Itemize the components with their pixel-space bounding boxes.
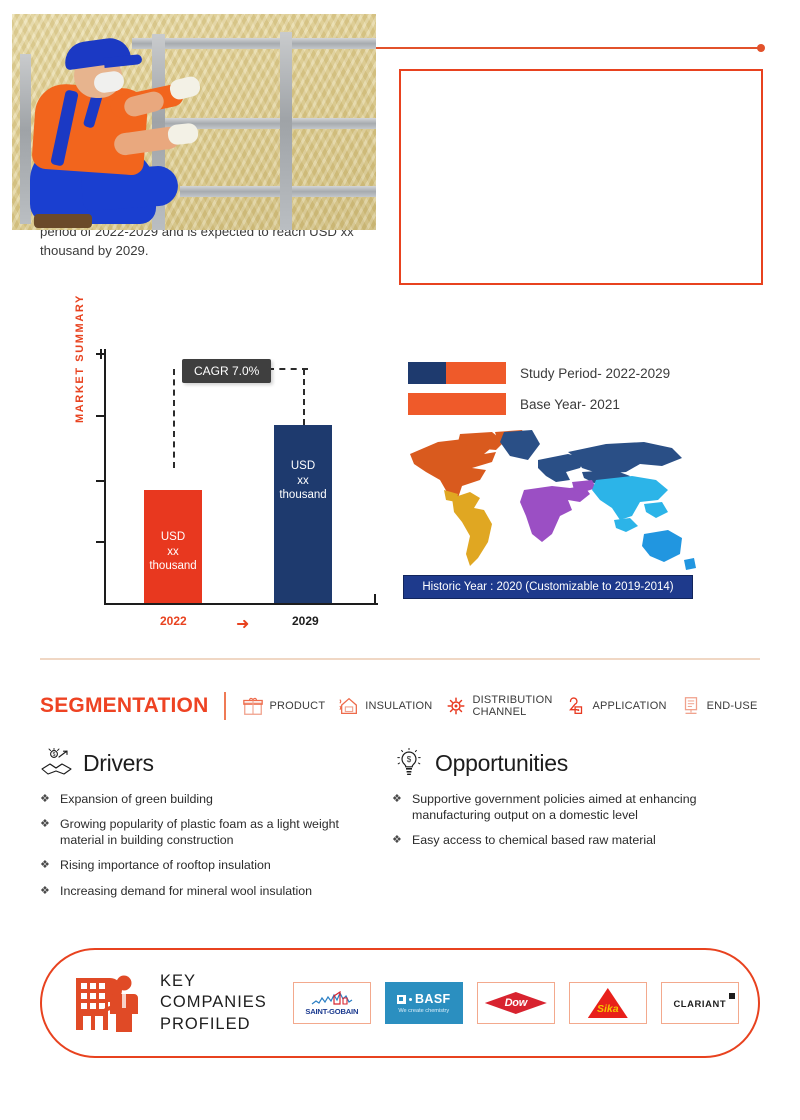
list-item: ❖ Growing popularity of plastic foam as … xyxy=(40,816,380,848)
legend-item-study-period: Study Period- 2022-2029 xyxy=(408,362,670,384)
driver-text: Increasing demand for mineral wool insul… xyxy=(60,883,380,899)
bar-2029-value: USD xx thousand xyxy=(274,459,332,503)
segmentation-divider xyxy=(224,692,226,720)
driver-text: Rising importance of rooftop insulation xyxy=(60,857,380,873)
hero-image-frame xyxy=(399,69,763,285)
basf-logo[interactable]: BASF We create chemistry xyxy=(385,982,463,1024)
drivers-section: $ Drivers ❖ Expansion of green building … xyxy=(40,748,380,908)
segmentation-bar: SEGMENTATION PRODUCT INSULATION xyxy=(40,686,770,726)
saint-gobain-wordmark: SAINT-GOBAIN xyxy=(305,1007,358,1016)
bullet-glyph: ❖ xyxy=(40,791,60,807)
chart-x-axis xyxy=(104,603,378,605)
opportunities-list: ❖ Supportive government policies aimed a… xyxy=(392,791,762,848)
opportunity-text: Easy access to chemical based raw materi… xyxy=(412,832,762,848)
y-tick xyxy=(96,541,106,543)
chart-x-labels: 2022 ➜ 2029 xyxy=(104,611,378,635)
bullet-glyph: ❖ xyxy=(392,832,412,848)
x-label-2029: 2029 xyxy=(292,614,319,628)
insulation-worker-photo xyxy=(12,14,376,230)
list-item: ❖ Easy access to chemical based raw mate… xyxy=(392,832,762,848)
chart-legend: Study Period- 2022-2029 Base Year- 2021 xyxy=(408,362,670,424)
segment-application[interactable]: APPLICATION xyxy=(565,695,666,717)
world-map-icon xyxy=(400,424,718,576)
section-divider xyxy=(40,658,760,660)
segmentation-items: PRODUCT INSULATION xyxy=(242,694,757,719)
product-box-icon xyxy=(242,695,264,717)
saint-gobain-logo[interactable]: SAINT-GOBAIN xyxy=(293,982,371,1024)
key-companies-title: KEY COMPANIES PROFILED xyxy=(160,971,267,1034)
dow-diamond-icon: Dow xyxy=(485,992,547,1014)
opportunity-text: Supportive government policies aimed at … xyxy=(412,791,762,823)
bar-2029: USD xx thousand xyxy=(274,425,332,603)
sika-wordmark: Sika xyxy=(597,1003,619,1015)
segmentation-heading: SEGMENTATION xyxy=(40,694,208,718)
segment-label: APPLICATION xyxy=(592,700,666,712)
dow-wordmark: Dow xyxy=(505,997,527,1009)
basf-mark: BASF xyxy=(397,992,451,1006)
lightbulb-dollar-icon: $ xyxy=(392,748,426,778)
svg-text:$: $ xyxy=(407,755,412,764)
list-item: ❖ Expansion of green building xyxy=(40,791,380,807)
growth-arrow-icon: ➜ xyxy=(236,617,249,633)
bar-2022: USD xx thousand xyxy=(144,490,202,603)
key-companies-box: KEY COMPANIES PROFILED SAINT-GOBAIN BASF xyxy=(40,948,760,1058)
house-insulation-icon xyxy=(338,695,360,717)
clariant-logo[interactable]: CLARIANT xyxy=(661,982,739,1024)
segment-product[interactable]: PRODUCT xyxy=(242,695,325,717)
legend-item-base-year: Base Year- 2021 xyxy=(408,393,670,415)
cagr-connector xyxy=(268,368,308,370)
opportunities-header: $ Opportunities xyxy=(392,748,762,778)
x-label-2022: 2022 xyxy=(160,614,187,628)
infographic-page: DATA BRIDGE MARKET RESEARCH SAUDI ARABIA… xyxy=(0,0,800,1120)
building-person-icon xyxy=(72,970,148,1036)
segment-label: PRODUCT xyxy=(269,700,325,712)
cagr-badge: CAGR 7.0% xyxy=(182,359,271,383)
market-summary-chart: MARKET SUMMARY CAGR 7.0% USD xx thousand… xyxy=(78,345,378,630)
saint-gobain-skyline-icon xyxy=(310,991,354,1005)
list-item: ❖ Increasing demand for mineral wool ins… xyxy=(40,883,380,899)
chart-y-axis-label: MARKET SUMMARY xyxy=(74,294,86,423)
drivers-title: Drivers xyxy=(83,750,154,777)
driver-text: Growing popularity of plastic foam as a … xyxy=(60,816,380,848)
basf-tagline: We create chemistry xyxy=(398,1008,449,1014)
segment-label: END-USE xyxy=(707,700,758,712)
svg-text:$: $ xyxy=(53,752,56,758)
clariant-square-icon xyxy=(729,993,735,999)
y-tick xyxy=(96,415,106,417)
basf-wordmark: BASF xyxy=(415,992,451,1006)
x-axis-cap xyxy=(374,594,376,605)
drivers-list: ❖ Expansion of green building ❖ Growing … xyxy=(40,791,380,899)
legend-label: Study Period- 2022-2029 xyxy=(520,366,670,381)
list-item: ❖ Rising importance of rooftop insulatio… xyxy=(40,857,380,873)
historic-year-banner: Historic Year : 2020 (Customizable to 20… xyxy=(403,575,693,599)
handshake-growth-icon: $ xyxy=(40,748,74,778)
application-icon xyxy=(565,695,587,717)
bullet-glyph: ❖ xyxy=(40,816,60,848)
segment-insulation[interactable]: INSULATION xyxy=(338,695,432,717)
bar-2022-leader-line xyxy=(173,369,175,468)
distribution-gear-icon xyxy=(445,695,467,717)
basf-square-icon xyxy=(397,995,406,1004)
segment-label: INSULATION xyxy=(365,700,432,712)
drivers-header: $ Drivers xyxy=(40,748,380,778)
world-map xyxy=(400,424,718,576)
list-item: ❖ Supportive government policies aimed a… xyxy=(392,791,762,823)
legend-label: Base Year- 2021 xyxy=(520,397,620,412)
y-tick xyxy=(96,353,106,355)
y-tick xyxy=(96,480,106,482)
worker-figure xyxy=(28,38,188,224)
opportunities-title: Opportunities xyxy=(435,750,568,777)
key-companies-brand: KEY COMPANIES PROFILED xyxy=(72,970,267,1036)
bullet-glyph: ❖ xyxy=(40,883,60,899)
sika-triangle-icon: Sika xyxy=(588,988,628,1018)
sika-logo[interactable]: Sika xyxy=(569,982,647,1024)
legend-swatch-pair-icon xyxy=(408,362,506,384)
basf-dot-icon xyxy=(409,998,412,1001)
chart-y-axis xyxy=(104,349,106,605)
bar-2022-value: USD xx thousand xyxy=(144,530,202,574)
driver-text: Expansion of green building xyxy=(60,791,380,807)
segment-label: DISTRIBUTION CHANNEL xyxy=(472,694,552,719)
segment-distribution-channel[interactable]: DISTRIBUTION CHANNEL xyxy=(445,694,552,719)
bullet-glyph: ❖ xyxy=(40,857,60,873)
end-use-document-icon xyxy=(680,695,702,717)
bullet-glyph: ❖ xyxy=(392,791,412,823)
clariant-wordmark: CLARIANT xyxy=(673,998,726,1009)
segment-end-use[interactable]: END-USE xyxy=(680,695,758,717)
legend-swatch-orange-icon xyxy=(408,393,506,415)
company-logos: SAINT-GOBAIN BASF We create chemistry Do… xyxy=(293,982,739,1024)
opportunities-section: $ Opportunities ❖ Supportive government … xyxy=(392,748,762,857)
dow-logo[interactable]: Dow xyxy=(477,982,555,1024)
